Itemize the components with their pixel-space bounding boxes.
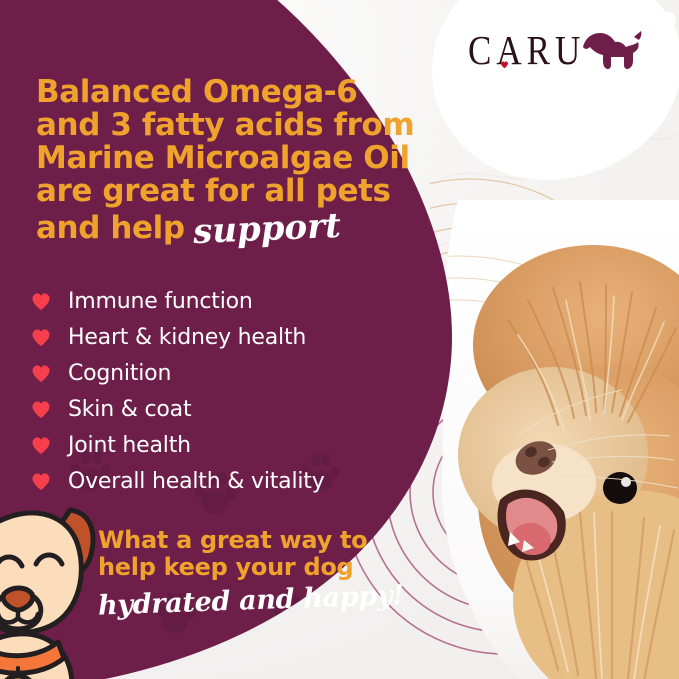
headline-script-word: support	[192, 208, 341, 251]
cartoon-dog-illustration	[0, 494, 134, 679]
headline-line-1: Balanced Omega-6	[36, 76, 456, 109]
benefits-list: Immune function Heart & kidney health Co…	[30, 283, 430, 499]
cta-line-2: help keep your dog	[98, 554, 418, 581]
caru-logo[interactable]: CARU	[468, 26, 648, 74]
list-item: Skin & coat	[30, 391, 430, 427]
list-item: Cognition	[30, 355, 430, 391]
headline: Balanced Omega-6 and 3 fatty acids from …	[36, 76, 456, 245]
list-item: Joint health	[30, 427, 430, 463]
list-item: Immune function	[30, 283, 430, 319]
list-item-label: Joint health	[68, 433, 191, 458]
list-item: Heart & kidney health	[30, 319, 430, 355]
heart-icon	[30, 291, 54, 311]
heart-icon	[30, 435, 54, 455]
heart-icon	[30, 471, 54, 491]
headline-line-5-prefix: and help	[36, 210, 185, 246]
headline-line-2: and 3 fatty acids from	[36, 109, 456, 142]
cta-script-line: hydrated and happy!	[98, 580, 419, 622]
advertisement-canvas: Balanced Omega-6 and 3 fatty acids from …	[0, 0, 679, 679]
list-item-label: Heart & kidney health	[68, 325, 306, 350]
list-item-label: Skin & coat	[68, 397, 191, 422]
logo-wordmark: CARU	[468, 29, 585, 70]
list-item-label: Cognition	[68, 361, 171, 386]
heart-icon	[30, 399, 54, 419]
logo-dog-silhouette-icon	[577, 30, 643, 72]
heart-icon	[30, 327, 54, 347]
heart-icon	[30, 363, 54, 383]
corner-highlight-dot	[661, 12, 676, 29]
logo-heart-icon	[500, 60, 509, 69]
list-item-label: Overall health & vitality	[68, 469, 325, 494]
list-item-label: Immune function	[68, 289, 253, 314]
call-to-action: What a great way to help keep your dog h…	[98, 527, 418, 616]
headline-line-4: are great for all pets	[36, 175, 456, 208]
headline-line-3: Marine Microalgae Oil	[36, 142, 456, 175]
headline-line-5: and helpsupport	[36, 209, 456, 245]
cta-line-1: What a great way to	[98, 527, 418, 554]
